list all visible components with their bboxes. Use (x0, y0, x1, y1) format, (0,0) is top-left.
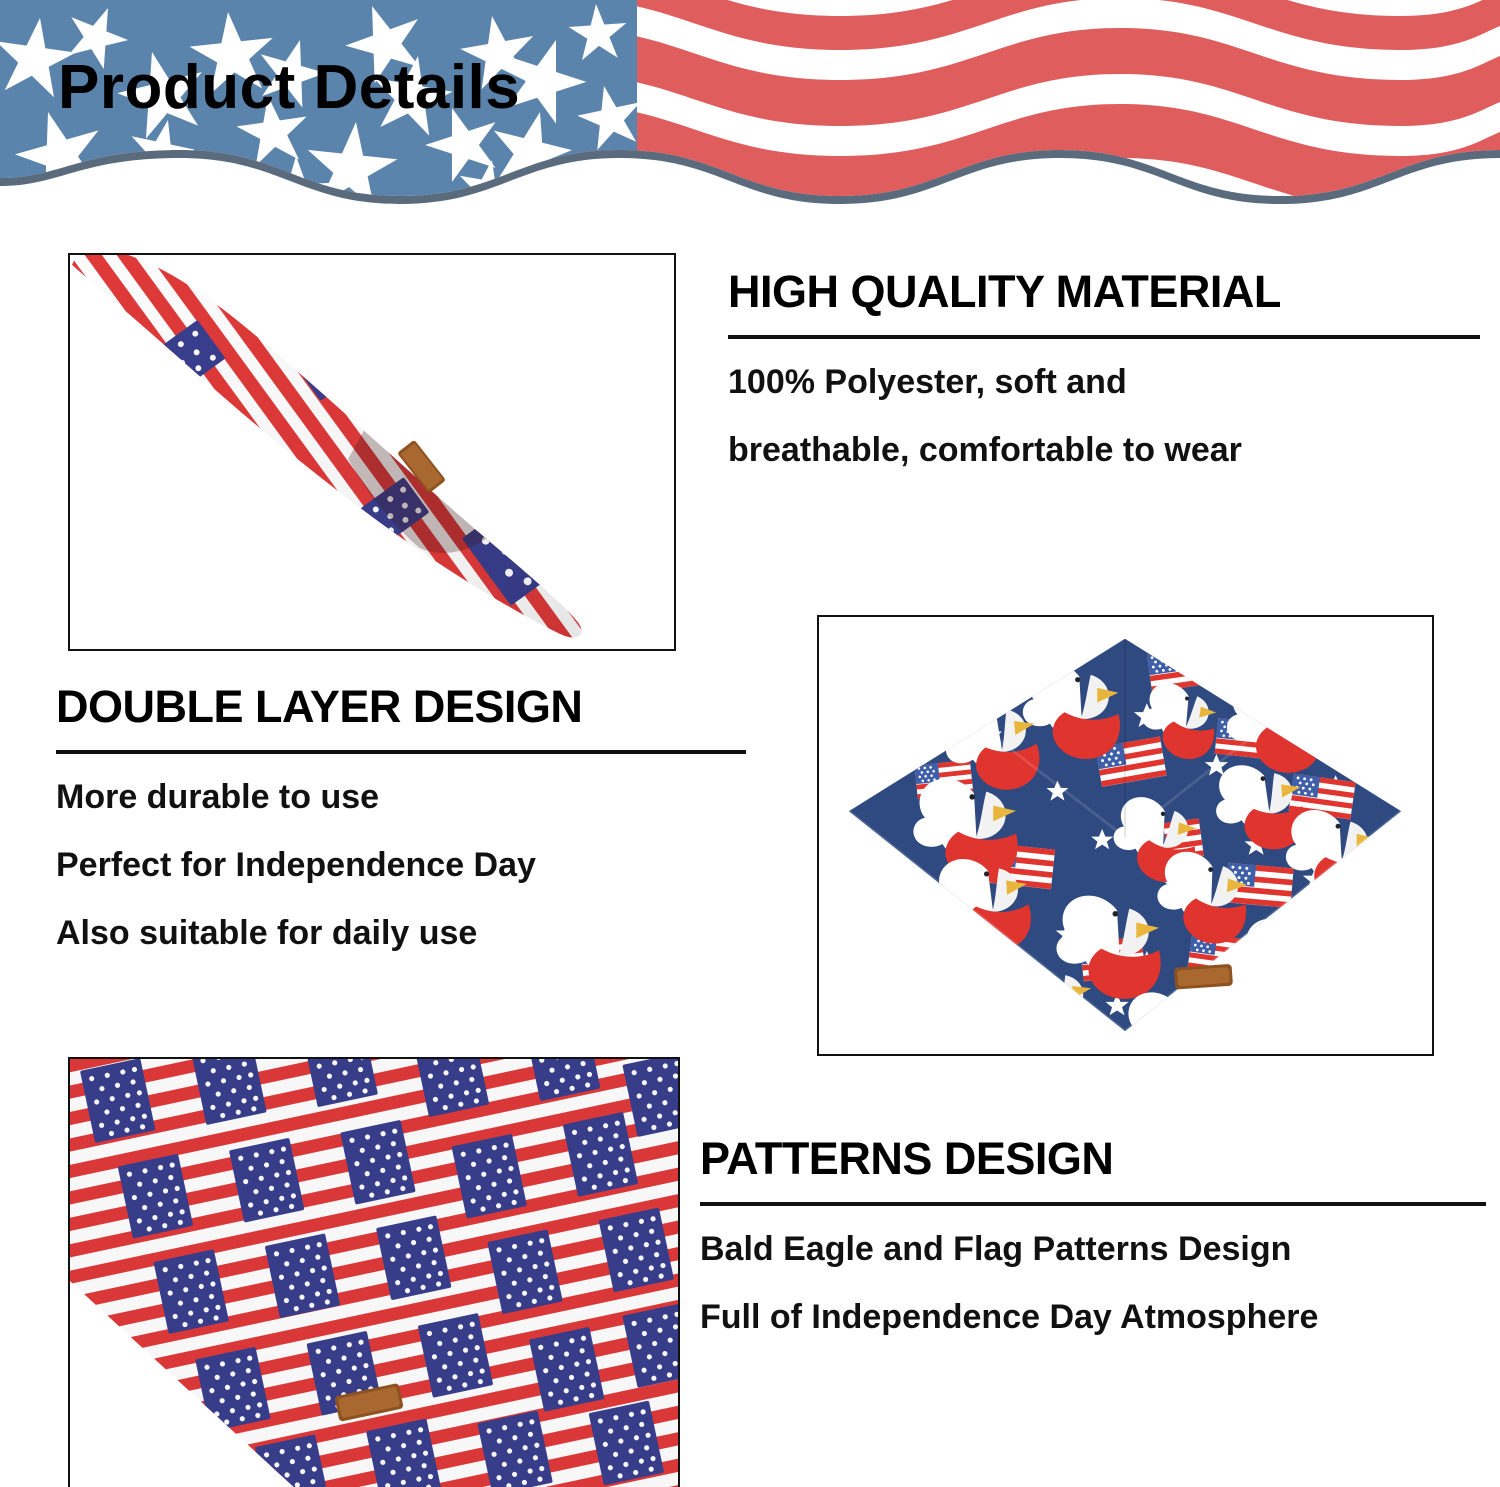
page-title: Product Details (58, 52, 520, 123)
header-flag-banner: Product Details (0, 0, 1500, 215)
leather-brand-tag (1174, 964, 1233, 990)
feature-block-patterns: PATTERNS DESIGN Bald Eagle and Flag Patt… (700, 1135, 1490, 1334)
feature-block-double-layer: DOUBLE LAYER DESIGN More durable to use … (56, 683, 756, 950)
feature-line: Full of Independence Day Atmosphere (700, 1300, 1490, 1334)
heading-divider (728, 335, 1480, 339)
feature-line: 100% Polyester, soft and (728, 365, 1488, 399)
feature-heading-patterns: PATTERNS DESIGN (700, 1135, 1490, 1182)
heading-divider (700, 1202, 1486, 1206)
feature-heading-double-layer: DOUBLE LAYER DESIGN (56, 683, 756, 730)
flat-striped-flag-bandana-photo (68, 1057, 680, 1487)
flat-bandana-graphic (70, 1059, 678, 1487)
eagle-bandana-graphic (819, 617, 1432, 1054)
feature-block-material: HIGH QUALITY MATERIAL 100% Polyester, so… (728, 268, 1488, 467)
heading-divider (56, 750, 746, 754)
feature-line: Perfect for Independence Day (56, 848, 756, 882)
feature-heading-material: HIGH QUALITY MATERIAL (728, 268, 1488, 315)
feature-line: Also suitable for daily use (56, 916, 756, 950)
eagle-pattern-bandana-photo (817, 615, 1434, 1056)
product-details-infographic: Product Details (0, 0, 1500, 1487)
folded-striped-flag-bandana-photo (68, 253, 676, 651)
folded-bandana-graphic (70, 255, 674, 649)
feature-line: breathable, comfortable to wear (728, 433, 1488, 467)
feature-line: More durable to use (56, 780, 756, 814)
feature-line: Bald Eagle and Flag Patterns Design (700, 1232, 1490, 1266)
